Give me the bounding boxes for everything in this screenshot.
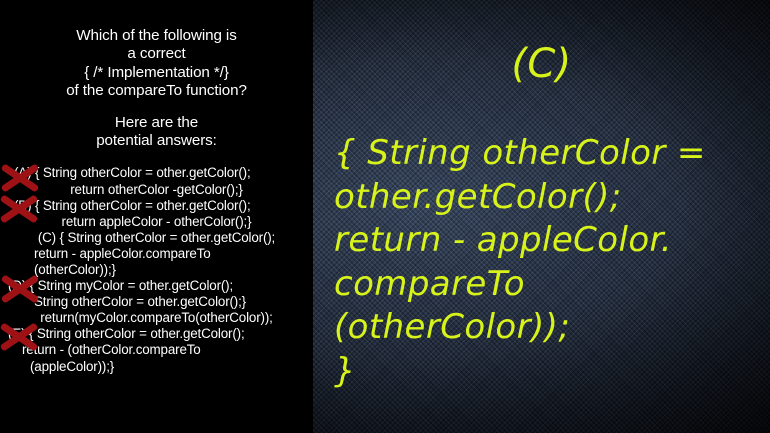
solution-panel: (C) { String otherColor = other.getColor… — [313, 0, 770, 433]
answer-option-a[interactable]: (A) { String otherColor = other.getColor… — [0, 165, 313, 197]
answer-d-line-3: return(myColor.compareTo(otherColor)); — [0, 310, 313, 326]
answer-option-c[interactable]: (C) { String otherColor = other.getColor… — [0, 230, 313, 278]
answer-c-line-1: (C) { String otherColor = other.getColor… — [0, 230, 313, 246]
answer-e-line-2: return - (otherColor.compareTo — [0, 342, 313, 358]
answer-c-line-3: (otherColor));} — [0, 262, 313, 278]
answer-option-b[interactable]: (B) { String otherColor = other.getColor… — [0, 198, 313, 230]
question-line-2: a correct — [0, 45, 313, 63]
prompt-line-1: Here are the — [0, 114, 313, 132]
solution-title: (C) — [313, 44, 770, 84]
question-block: Which of the following is a correct { /*… — [0, 0, 313, 150]
solution-line-2: other.getColor(); — [334, 176, 764, 220]
solution-line-5: (otherColor)); — [334, 306, 764, 350]
solution-line-3: return - appleColor. — [334, 219, 764, 263]
solution-code-block: { String otherColor = other.getColor(); … — [334, 132, 764, 393]
answer-e-line-3: (appleColor));} — [0, 359, 313, 375]
slide-canvas: Which of the following is a correct { /*… — [0, 0, 770, 433]
answer-b-line-1: (B) { String otherColor = other.getColor… — [0, 198, 313, 214]
answer-e-line-1: (E) { String otherColor = other.getColor… — [0, 326, 313, 342]
answer-option-e[interactable]: (E) { String otherColor = other.getColor… — [0, 326, 313, 374]
answer-options-list: (A) { String otherColor = other.getColor… — [0, 165, 313, 374]
solution-line-1: { String otherColor = — [334, 132, 764, 176]
answer-a-line-1: (A) { String otherColor = other.getColor… — [0, 165, 313, 181]
question-panel: Which of the following is a correct { /*… — [0, 0, 313, 433]
answer-option-d[interactable]: (D) { String myColor = other.getColor();… — [0, 278, 313, 326]
answer-a-line-2: return otherColor -getColor();} — [0, 182, 313, 198]
question-spacer — [0, 101, 313, 114]
question-line-1: Which of the following is — [0, 27, 313, 45]
answer-c-line-2: return - appleColor.compareTo — [0, 246, 313, 262]
prompt-line-2: potential answers: — [0, 132, 313, 150]
solution-line-6: } — [334, 350, 764, 394]
question-line-4: of the compareTo function? — [0, 82, 313, 100]
answer-b-line-2: return appleColor - otherColor();} — [0, 214, 313, 230]
solution-line-4: compareTo — [334, 263, 764, 307]
question-line-3: { /* Implementation */} — [0, 64, 313, 82]
answer-d-line-1: (D) { String myColor = other.getColor(); — [0, 278, 313, 294]
answer-d-line-2: String otherColor = other.getColor();} — [0, 294, 313, 310]
